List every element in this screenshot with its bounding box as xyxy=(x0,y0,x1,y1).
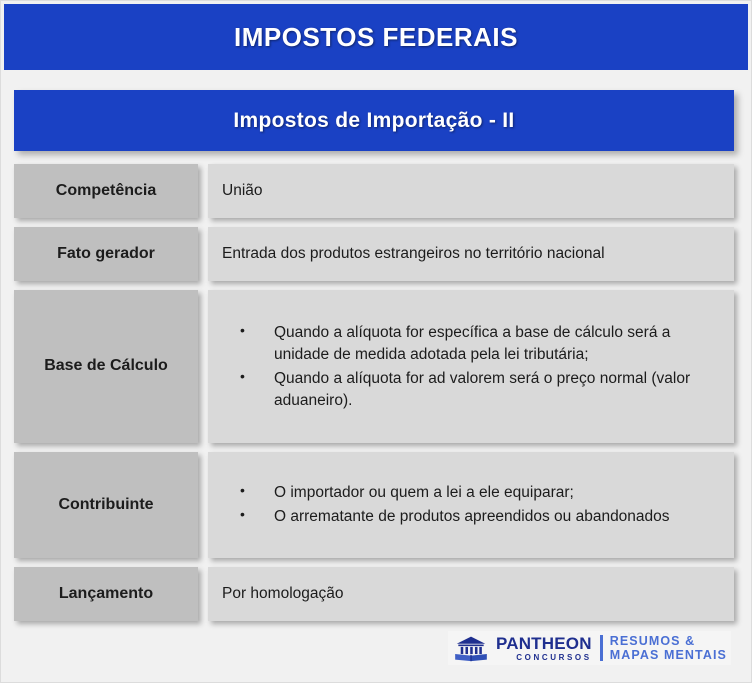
row-label-text: Contribuinte xyxy=(58,496,153,514)
logo-divider xyxy=(600,635,603,661)
main-title-banner: IMPOSTOS FEDERAIS xyxy=(4,4,748,70)
row-label-text: Competência xyxy=(56,182,156,200)
page-subtitle: Impostos de Importação - II xyxy=(233,109,514,133)
table-row: Contribuinte O importador ou quem a lei … xyxy=(1,452,751,558)
logo-tagline-line2: MAPAS MENTAIS xyxy=(610,648,727,662)
bullet-list: O importador ou quem a lei a ele equipar… xyxy=(222,482,720,528)
bullet-list: Quando a alíquota for específica a base … xyxy=(222,322,720,412)
table-row: Base de Cálculo Quando a alíquota for es… xyxy=(1,290,751,443)
row-content-text: União xyxy=(222,181,263,202)
footer: PANTHEON CONCURSOS RESUMOS & MAPAS MENTA… xyxy=(1,625,751,682)
row-label-text: Lançamento xyxy=(59,585,153,603)
attribute-table: Competência União Fato gerador Entrada d… xyxy=(1,164,751,630)
row-content-contribuinte: O importador ou quem a lei a ele equipar… xyxy=(208,452,734,558)
logo-brand-sub: CONCURSOS xyxy=(496,654,592,662)
subtitle-banner: Impostos de Importação - II xyxy=(14,90,734,151)
row-content-lancamento: Por homologação xyxy=(208,567,734,621)
page-title: IMPOSTOS FEDERAIS xyxy=(234,22,518,53)
logo-tagline: RESUMOS & MAPAS MENTAIS xyxy=(610,634,727,662)
pantheon-logo: PANTHEON CONCURSOS RESUMOS & MAPAS MENTA… xyxy=(448,631,731,665)
row-content-text: Por homologação xyxy=(222,584,344,605)
logo-wordmark: PANTHEON CONCURSOS RESUMOS & MAPAS MENTA… xyxy=(496,634,727,662)
row-label-contribuinte: Contribuinte xyxy=(14,452,198,558)
row-content-text: Entrada dos produtos estrangeiros no ter… xyxy=(222,244,605,265)
row-label-fato-gerador: Fato gerador xyxy=(14,227,198,281)
table-row: Fato gerador Entrada dos produtos estran… xyxy=(1,227,751,281)
logo-brand: PANTHEON CONCURSOS xyxy=(496,635,592,662)
logo-brand-main: PANTHEON xyxy=(496,635,592,652)
row-label-competencia: Competência xyxy=(14,164,198,218)
list-item: O importador ou quem a lei a ele equipar… xyxy=(240,482,720,504)
row-content-base-de-calculo: Quando a alíquota for específica a base … xyxy=(208,290,734,443)
infographic-page: IMPOSTOS FEDERAIS Impostos de Importação… xyxy=(1,1,751,682)
list-item: O arrematante de produtos apreendidos ou… xyxy=(240,506,720,528)
table-row: Lançamento Por homologação xyxy=(1,567,751,621)
table-row: Competência União xyxy=(1,164,751,218)
row-label-lancamento: Lançamento xyxy=(14,567,198,621)
list-item: Quando a alíquota for ad valorem será o … xyxy=(240,368,720,412)
logo-tagline-line1: RESUMOS & xyxy=(610,634,727,648)
row-label-base-de-calculo: Base de Cálculo xyxy=(14,290,198,443)
row-content-fato-gerador: Entrada dos produtos estrangeiros no ter… xyxy=(208,227,734,281)
row-label-text: Base de Cálculo xyxy=(44,357,168,375)
row-content-competencia: União xyxy=(208,164,734,218)
list-item: Quando a alíquota for específica a base … xyxy=(240,322,720,366)
row-label-text: Fato gerador xyxy=(57,245,155,263)
pantheon-temple-book-icon xyxy=(452,635,490,662)
